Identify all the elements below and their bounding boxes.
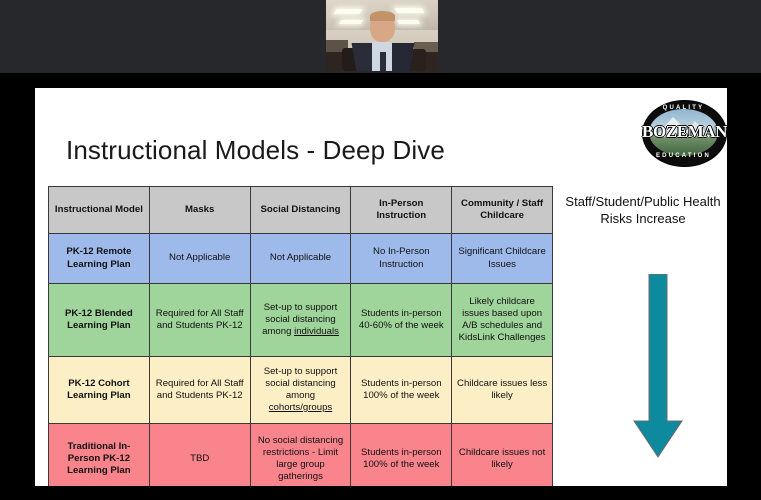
row-social-distancing: Not Applicable (250, 234, 351, 284)
row-in-person-instruction: Students in-person 100% of the week (351, 424, 452, 487)
instructional-models-table: Instructional Model Masks Social Distanc… (48, 186, 553, 486)
presentation-slide: Instructional Models - Deep Dive QUALITY… (35, 88, 727, 486)
column-header-model: Instructional Model (49, 187, 150, 234)
row-social-distancing: Set-up to support social distancing amon… (250, 357, 351, 424)
column-header-in-person-instruction: In-Person Instruction (351, 187, 452, 234)
logo-bottom-text: EDUCATION (642, 153, 725, 159)
health-risk-note: Staff/Student/Public Health Risks Increa… (563, 193, 723, 227)
participant-video-tile[interactable] (326, 0, 438, 71)
row-social-distancing: Set-up to support social distancing amon… (250, 284, 351, 357)
ceiling-light-icon (397, 20, 420, 24)
risk-increase-arrow (630, 274, 686, 459)
row-model-name: PK-12 Blended Learning Plan (49, 284, 150, 357)
video-strip (0, 0, 761, 73)
presenter-hair (370, 11, 395, 21)
row-in-person-instruction: Students in-person 40-60% of the week (351, 284, 452, 357)
page-title: Instructional Models - Deep Dive (66, 135, 445, 166)
distancing-emphasis: individuals (294, 326, 339, 337)
row-childcare: Childcare issues less likely (452, 357, 553, 424)
column-header-masks: Masks (149, 187, 250, 234)
ceiling-light-icon (339, 20, 363, 24)
row-social-distancing: No social distancing restrictions - Limi… (250, 424, 351, 487)
row-masks: Required for All Staff and Students PK-1… (149, 284, 250, 357)
screen-share-view: Instructional Models - Deep Dive QUALITY… (0, 0, 761, 500)
row-model-name: Traditional In-Person PK-12 Learning Pla… (49, 424, 150, 487)
table-header-row: Instructional Model Masks Social Distanc… (49, 187, 553, 234)
row-in-person-instruction: No In-Person Instruction (351, 234, 452, 284)
logo-wordmark: BOZEMAN (642, 122, 725, 142)
row-model-name: PK-12 Cohort Learning Plan (49, 357, 150, 424)
ceiling-light-icon (334, 9, 363, 14)
necktie (380, 52, 386, 71)
distancing-text: Set-up to support social distancing amon… (264, 366, 338, 401)
table-row: PK-12 Remote Learning Plan Not Applicabl… (49, 234, 553, 284)
row-childcare: Likely childcare issues based upon A/B s… (452, 284, 553, 357)
table-row: PK-12 Blended Learning Plan Required for… (49, 284, 553, 357)
row-in-person-instruction: Students in-person 100% of the week (351, 357, 452, 424)
row-masks: Required for All Staff and Students PK-1… (149, 357, 250, 424)
row-masks: Not Applicable (149, 234, 250, 284)
logo-top-text: QUALITY (642, 105, 725, 111)
column-header-childcare: Community / Staff Childcare (452, 187, 553, 234)
row-masks: TBD (149, 424, 250, 487)
down-arrow-icon (630, 274, 686, 459)
bozeman-schools-logo: QUALITY BOZEMAN EDUCATION (642, 100, 725, 165)
column-header-social-distancing: Social Distancing (250, 187, 351, 234)
distancing-emphasis: cohorts/groups (269, 402, 332, 413)
row-model-name: PK-12 Remote Learning Plan (49, 234, 150, 284)
table-row: PK-12 Cohort Learning Plan Required for … (49, 357, 553, 424)
row-childcare: Significant Childcare Issues (452, 234, 553, 284)
row-childcare: Childcare issues not likely (452, 424, 553, 487)
ceiling-light-icon (395, 8, 424, 13)
table-row: Traditional In-Person PK-12 Learning Pla… (49, 424, 553, 487)
